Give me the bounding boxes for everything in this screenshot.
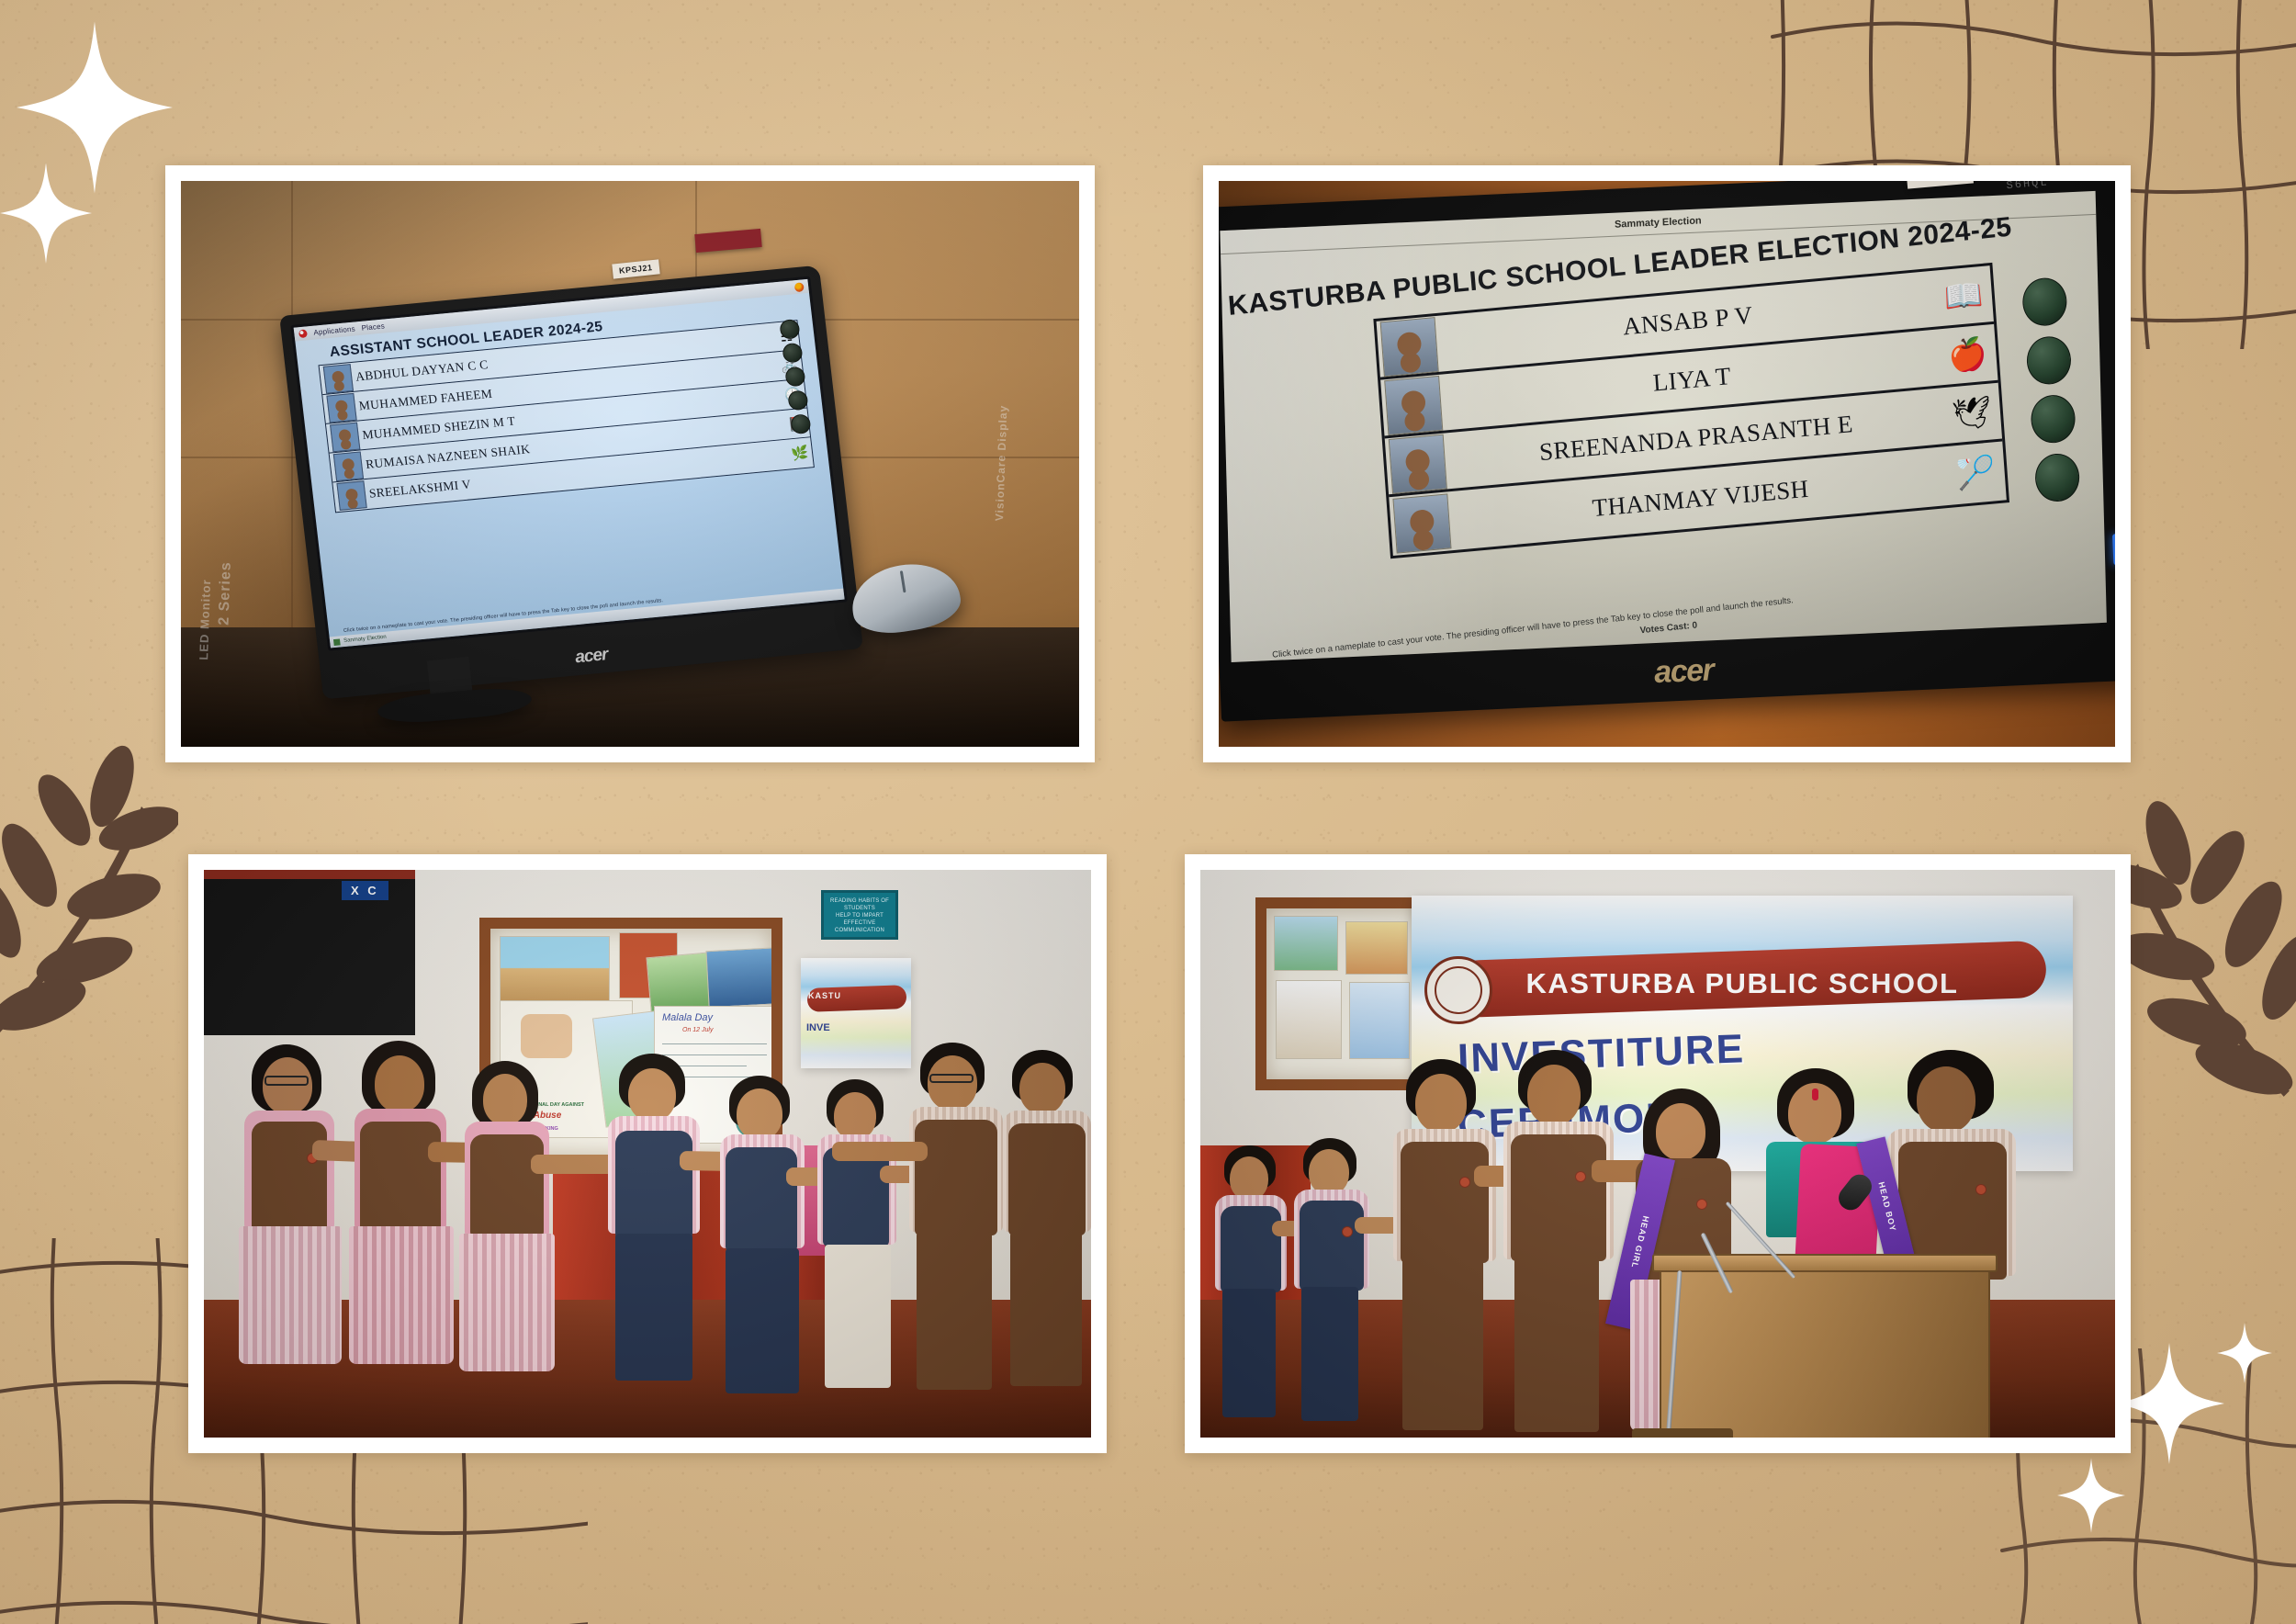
banner-event-partial: INVE [806,1022,830,1033]
photo-school-leader-election-tv: S6HQL Sammaty Election KASTURBA PUBLIC S… [1219,181,2115,747]
school-badge [1342,1226,1353,1237]
student-figure [599,1054,718,1430]
candidate-photo [1392,493,1451,553]
uniform-vest [1008,1123,1086,1235]
head [375,1055,424,1112]
outstretched-arm [832,1142,928,1161]
head [1527,1065,1581,1125]
wooden-podium [1660,1265,1990,1438]
uniform-trousers [1514,1256,1599,1432]
student-figure [231,1044,351,1430]
vote-button[interactable] [2025,334,2073,386]
vote-button[interactable] [2033,452,2081,503]
television-screen: Sammaty Election KASTURBA PUBLIC SCHOOL … [1220,191,2106,662]
uniform-trousers [615,1234,692,1381]
student-drawing [1345,921,1408,975]
vote-button[interactable] [2030,393,2077,445]
vote-button[interactable] [784,367,805,388]
student-drawing [1349,982,1410,1059]
head [737,1088,782,1140]
classroom-scene: X C INTERNATIONAL DAY AGAINST Drug Abuse… [204,870,1091,1438]
uniform-trousers [825,1245,891,1388]
student-figure [711,1076,821,1436]
vote-button[interactable] [779,319,800,340]
student-figure [343,1041,463,1427]
candidate-photo [1380,317,1439,377]
uniform-skirt [239,1226,342,1364]
uniform-vest [823,1147,889,1246]
box-text-led-monitor: LED Monitor [197,579,213,660]
candidate-photo [330,422,360,452]
event-banner-partial: KASTU INVE [801,958,911,1068]
photo-frame-top-left: 2 Series LED Monitor VisionCare Display … [165,165,1095,762]
student-figure [454,1061,564,1428]
uniform-trousers [1402,1257,1483,1430]
eyeglasses-icon [929,1074,974,1083]
ceremony-scene: KASTURBA PUBLIC SCHOOL INVESTITURE CEREM… [1200,870,2115,1438]
monitor-model-text: S6HQL [2006,181,2049,192]
text-rule [662,1043,767,1044]
app-icon [333,638,341,646]
bindi-icon [1812,1088,1818,1100]
head [628,1068,676,1122]
candidate-photo [1389,434,1447,493]
head [1917,1066,1975,1133]
eyeglasses-icon [264,1076,309,1086]
head [1415,1074,1467,1133]
open-book-icon: 📖 [1933,276,1993,317]
candidate-photo [326,392,356,423]
uniform-trousers [917,1232,992,1390]
student-drawing [1276,980,1342,1059]
student-figure [996,1050,1091,1436]
monitor-bezel: Applications Places ASSISTANT SCHOOL LEA… [290,276,848,651]
acer-television: S6HQL Sammaty Election KASTURBA PUBLIC S… [1219,181,2115,722]
head [263,1057,312,1114]
school-badge [1975,1184,1986,1195]
applications-menu-icon[interactable] [298,329,308,338]
uniform-vest [1221,1206,1281,1292]
student-figure [1384,1059,1513,1438]
uniform-vest [360,1122,441,1232]
uniform-vest [470,1134,544,1237]
vote-button[interactable] [782,343,803,364]
uniform-vest [1300,1201,1364,1291]
photo-assistant-leader-ballot-monitor: 2 Series LED Monitor VisionCare Display … [181,181,1079,747]
ballot-panel: ASSISTANT SCHOOL LEADER 2024-25 ABDHUL D… [316,300,827,615]
uniform-vest [726,1147,797,1252]
podium-top-ledge [1652,1254,1998,1272]
photo-investiture-ceremony: KASTURBA PUBLIC SCHOOL INVESTITURE CEREM… [1200,870,2115,1438]
photo-frame-top-right: S6HQL Sammaty Election KASTURBA PUBLIC S… [1203,165,2131,762]
uniform-trousers [1222,1289,1276,1417]
places-menu-label[interactable]: Places [361,321,385,332]
statusbar-task-label[interactable]: Sanmaty Election [343,635,387,644]
uniform-vest [915,1120,997,1235]
shuttlecock-icon: 🏸 [1946,452,2006,493]
malala-day-heading: Malala Day [662,1012,713,1023]
uniform-skirt [349,1226,454,1364]
uniform-trousers [1010,1232,1082,1386]
student-figure [1494,1050,1632,1438]
school-badge [1696,1199,1707,1210]
apple-icon: 🍎 [1938,333,1998,375]
firefox-icon[interactable] [794,282,805,292]
asset-label-kpsj03: KPSJ03 [1906,181,1974,189]
vote-button[interactable] [2021,276,2069,328]
wall-plaque: READING HABITS OF STUDENTSHELP TO IMPART… [821,890,898,940]
candidate-photo [336,480,366,511]
uniform-trousers [726,1248,799,1393]
head [1019,1063,1065,1114]
photo-frame-bottom-left: X C INTERNATIONAL DAY AGAINST Drug Abuse… [188,854,1107,1453]
acer-monitor: Applications Places ASSISTANT SCHOOL LEA… [279,265,863,700]
student-drawing [705,947,782,1008]
podium-base [1632,1428,1733,1438]
candidate-photo [323,364,354,394]
dove-icon: 🕊 [1942,392,2002,434]
box-text-series: 2 Series [216,561,234,626]
vote-button[interactable] [787,389,808,411]
window-title: Sammaty Election [1615,215,1702,230]
student-figure [1290,1138,1382,1438]
monitor-screen: Applications Places ASSISTANT SCHOOL LEA… [294,279,845,648]
malala-day-subheading: On 12 July [682,1027,713,1033]
power-led-indicator [2112,534,2115,565]
head [1309,1149,1349,1195]
head [1656,1103,1705,1160]
plant-icon: 🌿 [787,444,813,462]
school-badge [1459,1177,1470,1188]
candidate-photo [1384,375,1443,434]
candidate-photo [333,451,364,481]
fist-illustration [521,1014,572,1058]
uniform-skirt [459,1234,555,1371]
student-figure [810,1079,913,1436]
head [1230,1156,1268,1201]
uniform-vest [1511,1134,1606,1261]
uniform-vest [615,1131,692,1239]
candidate-list: ANSAB P V 📖 LIYA T 🍎 SREENANDA PRASANTH … [1373,263,2009,558]
vote-button-column [2021,276,2081,504]
classroom-tag: X C [342,881,388,900]
head [834,1092,876,1140]
student-drawing [1274,916,1338,971]
head [928,1055,977,1111]
photo-frame-bottom-right: KASTURBA PUBLIC SCHOOL INVESTITURE CEREM… [1185,854,2131,1453]
student-figure [1211,1145,1300,1438]
uniform-trousers [1301,1287,1358,1421]
head [483,1074,527,1125]
uniform-vest [1401,1142,1489,1263]
banner-school-name-partial: KASTU [808,991,841,1000]
school-badge [1575,1171,1586,1182]
vote-button[interactable] [790,413,811,434]
uniform-vest [252,1122,327,1232]
applications-menu-label[interactable]: Applications [313,324,355,336]
photo-students-oath-classroom: X C INTERNATIONAL DAY AGAINST Drug Abuse… [204,870,1091,1438]
